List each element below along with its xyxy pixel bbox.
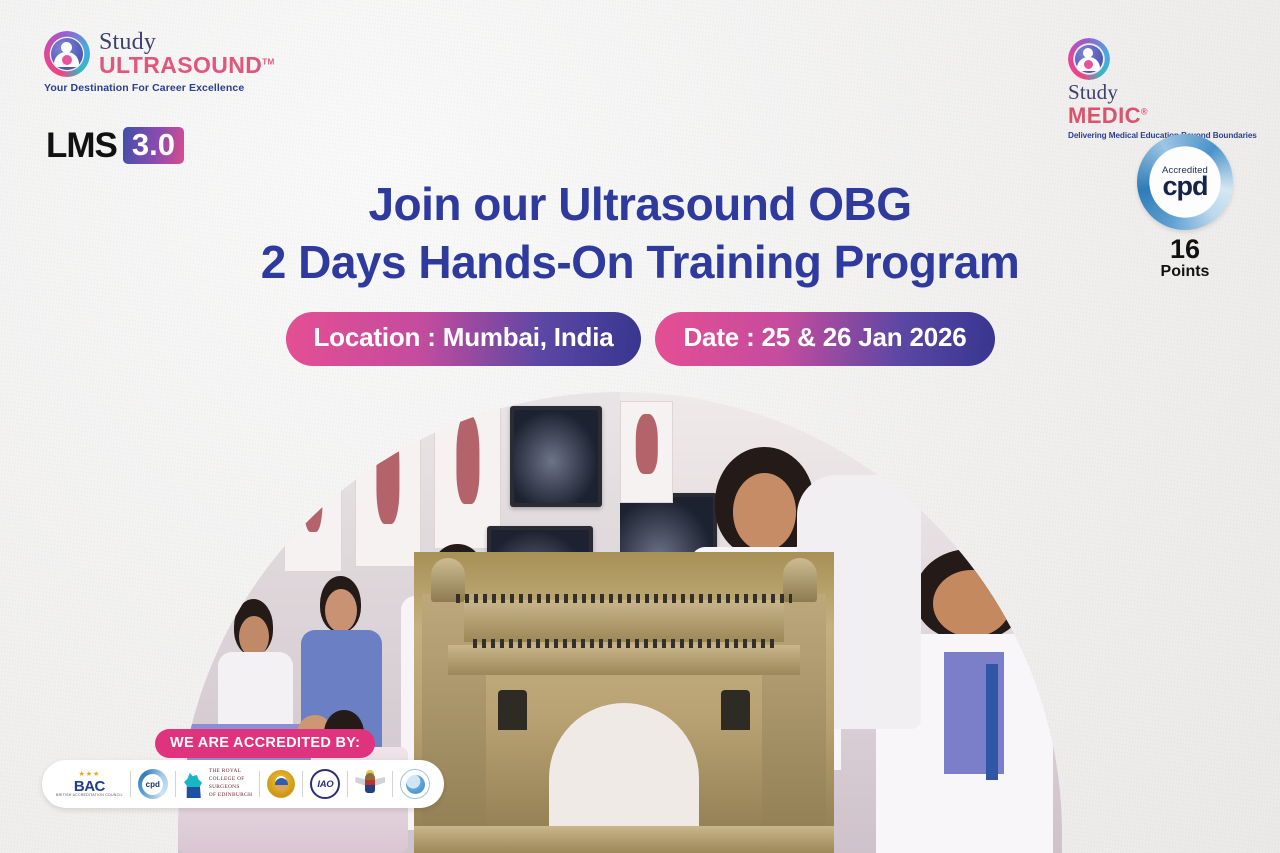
event-info-pills: Location : Mumbai, India Date : 25 & 26 … bbox=[0, 312, 1280, 366]
lms-label: LMS bbox=[46, 128, 117, 163]
accredited-by-label: WE ARE ACCREDITED BY: bbox=[155, 729, 375, 758]
cpd-logo[interactable]: cpd bbox=[138, 769, 168, 799]
rcse-line-4: OF EDINBURGH bbox=[209, 792, 253, 800]
divider bbox=[302, 771, 303, 797]
rcse-line-1: THE ROYAL bbox=[209, 768, 253, 776]
registered-symbol: ® bbox=[1141, 107, 1148, 117]
logo-word-study: Study bbox=[99, 30, 275, 54]
divider bbox=[130, 771, 131, 797]
rcse-line-3: SURGEONS bbox=[209, 784, 253, 792]
bac-sublabel: BRITISH ACCREDITATION COUNCIL bbox=[56, 794, 123, 798]
headline: Join our Ultrasound OBG 2 Days Hands-On … bbox=[0, 176, 1280, 291]
bac-logo[interactable]: ★★★ BAC BRITISH ACCREDITATION COUNCIL bbox=[56, 771, 123, 798]
royal-college-surgeons-edinburgh-logo[interactable]: THE ROYAL COLLEGE OF SURGEONS OF EDINBUR… bbox=[183, 768, 253, 799]
accreditation-logo-strip: ★★★ BAC BRITISH ACCREDITATION COUNCIL cp… bbox=[42, 760, 444, 808]
blue-globe-seal-logo[interactable] bbox=[400, 769, 430, 799]
location-pill[interactable]: Location : Mumbai, India bbox=[286, 312, 642, 366]
headline-line-2: 2 Days Hands-On Training Program bbox=[0, 234, 1280, 292]
bac-stars-icon: ★★★ bbox=[78, 771, 100, 778]
unicorn-icon bbox=[183, 770, 205, 798]
mother-baby-ring-icon bbox=[1068, 38, 1110, 80]
medic-logo-word-medic: MEDIC bbox=[1068, 103, 1141, 128]
study-medic-logo[interactable]: Study MEDIC® Delivering Medical Educatio… bbox=[1068, 38, 1268, 140]
divider bbox=[175, 771, 176, 797]
mother-baby-ring-icon bbox=[44, 31, 90, 77]
cpd-small-label: cpd bbox=[142, 774, 163, 795]
headline-line-1: Join our Ultrasound OBG bbox=[0, 176, 1280, 234]
ultrasound-logo-tagline: Your Destination For Career Excellence bbox=[44, 82, 274, 94]
medic-logo-word-study: Study bbox=[1068, 80, 1268, 105]
eagle-seal-logo[interactable] bbox=[355, 770, 385, 798]
lms-version-number: 3.0 bbox=[123, 127, 184, 164]
divider bbox=[392, 771, 393, 797]
logo-word-ultrasound: ULTRASOUND bbox=[99, 52, 262, 78]
iao-logo[interactable]: IAO bbox=[310, 769, 340, 799]
gold-seal-logo[interactable] bbox=[267, 770, 295, 798]
divider bbox=[259, 771, 260, 797]
lms-version-badge[interactable]: LMS 3.0 bbox=[46, 127, 184, 164]
gateway-of-india-photo bbox=[414, 552, 834, 853]
trademark-symbol: TM bbox=[262, 57, 274, 66]
divider bbox=[347, 771, 348, 797]
rcse-line-2: COLLEGE OF bbox=[209, 776, 253, 784]
date-pill[interactable]: Date : 25 & 26 Jan 2026 bbox=[655, 312, 994, 366]
bac-label: BAC bbox=[74, 779, 105, 794]
study-ultrasound-logo[interactable]: Study ULTRASOUNDTM Your Destination For … bbox=[44, 30, 274, 102]
